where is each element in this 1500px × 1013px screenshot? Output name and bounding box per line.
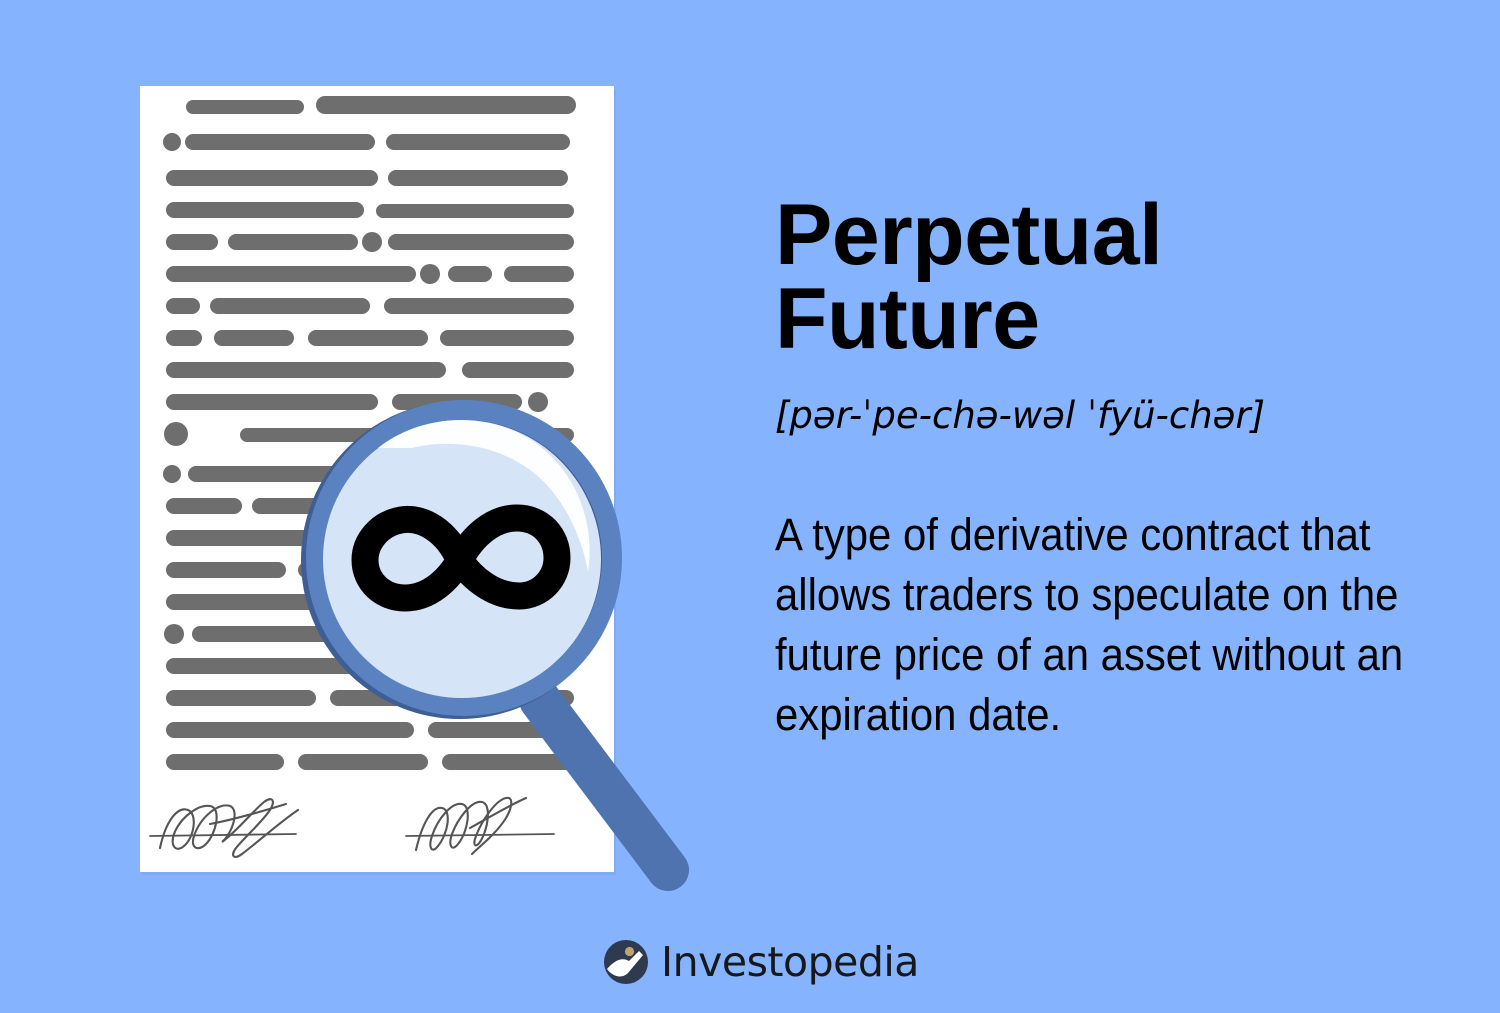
infographic-canvas: Perpetual Future [pər-ˈpe-chə-wəl ˈfyü-c… (0, 0, 1500, 1013)
title-line-2: Future (775, 277, 1465, 361)
investopedia-mark-icon (603, 939, 649, 985)
page-title: Perpetual Future (775, 193, 1465, 362)
signature-left (160, 799, 298, 857)
magnifier-handle (540, 700, 668, 870)
magnifying-glass (300, 400, 720, 920)
pronunciation: [pər-ˈpe-chə-wəl ˈfyü-chər] (775, 394, 1465, 437)
investopedia-logo[interactable]: Investopedia (603, 936, 919, 988)
signature-line-left (150, 834, 296, 836)
illustration (0, 0, 760, 1013)
text-column: Perpetual Future [pər-ˈpe-chə-wəl ˈfyü-c… (775, 0, 1465, 1013)
definition-text: A type of derivative contract that allow… (775, 505, 1407, 744)
title-line-1: Perpetual (775, 187, 1162, 283)
investopedia-wordmark: Investopedia (661, 938, 919, 986)
